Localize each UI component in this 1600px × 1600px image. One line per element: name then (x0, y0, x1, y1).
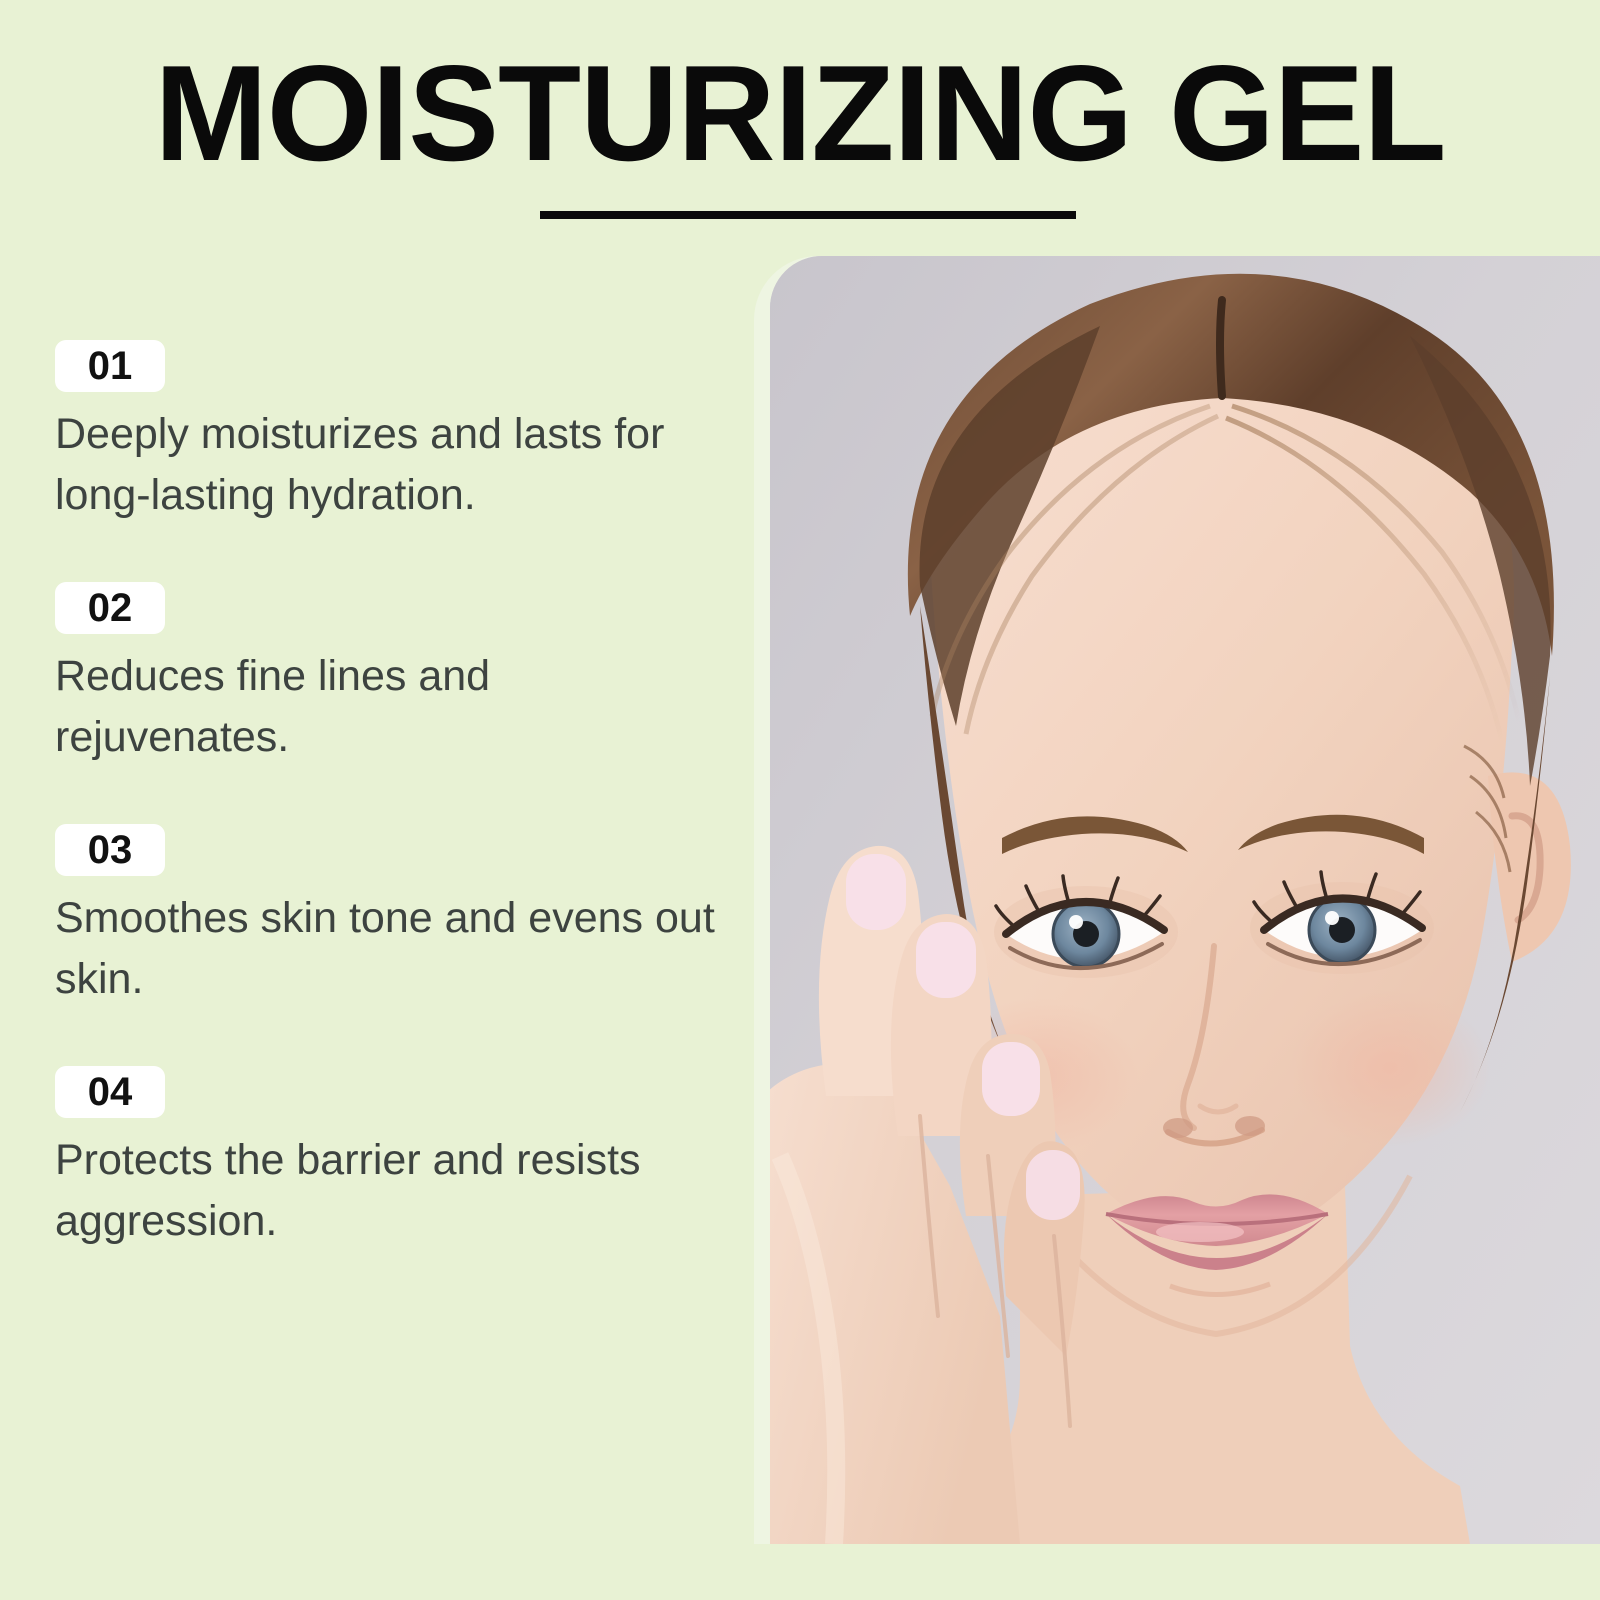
photo-frame (754, 256, 1600, 1544)
infographic-poster: MOISTURIZING GEL (0, 0, 1600, 1600)
feature-description: Deeply moisturizes and lasts for long-la… (55, 404, 715, 526)
portrait-illustration (770, 256, 1600, 1544)
portrait-photo (770, 256, 1600, 1544)
feature-item-03: 03 Smoothes skin tone and evens out skin… (55, 824, 715, 1010)
feature-description: Reduces fine lines and rejuvenates. (55, 646, 715, 768)
feature-item-04: 04 Protects the barrier and resists aggr… (55, 1066, 715, 1252)
feature-number-badge: 04 (55, 1066, 165, 1118)
title-underline-rule (540, 211, 1076, 219)
feature-number-badge: 03 (55, 824, 165, 876)
feature-number-badge: 02 (55, 582, 165, 634)
poster-header: MOISTURIZING GEL (0, 0, 1600, 250)
page-title: MOISTURIZING GEL (0, 42, 1600, 185)
feature-list: 01 Deeply moisturizes and lasts for long… (55, 340, 715, 1252)
feature-item-01: 01 Deeply moisturizes and lasts for long… (55, 340, 715, 526)
feature-item-02: 02 Reduces fine lines and rejuvenates. (55, 582, 715, 768)
feature-description: Protects the barrier and resists aggress… (55, 1130, 715, 1252)
feature-description: Smoothes skin tone and evens out skin. (55, 888, 715, 1010)
feature-number-badge: 01 (55, 340, 165, 392)
